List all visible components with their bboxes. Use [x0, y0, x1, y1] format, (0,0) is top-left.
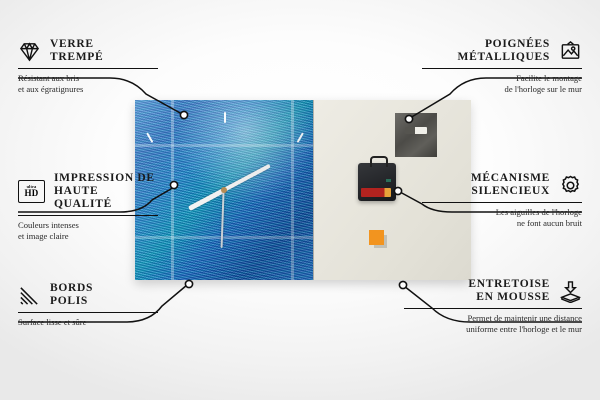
- clock-tick-marks: [135, 100, 313, 280]
- badge-hd-label: HD: [24, 189, 38, 198]
- clock-front-face: [135, 100, 313, 280]
- battery: [361, 188, 391, 197]
- callout-mecanisme-silencieux: MÉCANISME SILENCIEUX Les aiguilles de l'…: [422, 172, 582, 229]
- callout-desc: Résistant aux bris et aux égratignures: [18, 73, 158, 94]
- callout-rule: [18, 215, 158, 216]
- callout-rule: [422, 68, 582, 69]
- callout-title: MÉCANISME SILENCIEUX: [471, 172, 550, 198]
- foam-spacer: [369, 230, 384, 245]
- product-photo: [135, 100, 470, 280]
- callout-title: IMPRESSION DE HAUTE QUALITÉ: [54, 172, 158, 211]
- callout-desc: Les aiguilles de l'horloge ne font aucun…: [422, 207, 582, 228]
- callout-title: POIGNÉES MÉTALLIQUES: [458, 38, 550, 64]
- callout-title: BORDS POLIS: [50, 282, 93, 308]
- polished-edges-icon: [18, 284, 41, 307]
- leader-dot-bords-polis: [185, 280, 192, 287]
- callout-bords-polis: BORDS POLIS Surface lisse et sûre: [18, 282, 158, 328]
- clock-minute-hand: [223, 164, 271, 192]
- callout-desc: Facilite le montage de l'horloge sur le …: [422, 73, 582, 94]
- callout-title: VERRE TREMPÉ: [50, 38, 103, 64]
- callout-desc: Permet de maintenir une distance uniform…: [404, 313, 582, 334]
- callout-impression-haute-qualite: ultra HD IMPRESSION DE HAUTE QUALITÉ Cou…: [18, 172, 158, 242]
- clock-mechanism: [358, 163, 396, 201]
- gear-icon: [559, 174, 582, 197]
- callout-rule: [422, 202, 582, 203]
- callout-entretoise-en-mousse: ENTRETOISE EN MOUSSE Permet de maintenir…: [404, 278, 582, 335]
- clock-second-hand: [221, 190, 225, 248]
- infographic-stage: VERRE TREMPÉ Résistant aux bris et aux é…: [0, 0, 600, 400]
- callout-verre-trempe: VERRE TREMPÉ Résistant aux bris et aux é…: [18, 38, 158, 95]
- callout-rule: [18, 68, 158, 69]
- ultra-hd-badge-icon: ultra HD: [18, 180, 45, 203]
- clock-center-pin: [221, 187, 227, 193]
- picture-frame-hanger-icon: [559, 40, 582, 63]
- callout-desc: Surface lisse et sûre: [18, 317, 158, 328]
- callout-rule: [18, 312, 158, 313]
- callout-title: ENTRETOISE EN MOUSSE: [468, 278, 550, 304]
- foam-spacer-arrow-icon: [559, 280, 582, 303]
- callout-desc: Couleurs intenses et image claire: [18, 220, 158, 241]
- metal-hanger-icon: [395, 113, 437, 157]
- callout-rule: [404, 308, 582, 309]
- callout-poignees-metalliques: POIGNÉES MÉTALLIQUES Facilite le montage…: [422, 38, 582, 95]
- clock-hour-hand: [188, 188, 226, 211]
- diamond-icon: [18, 40, 41, 63]
